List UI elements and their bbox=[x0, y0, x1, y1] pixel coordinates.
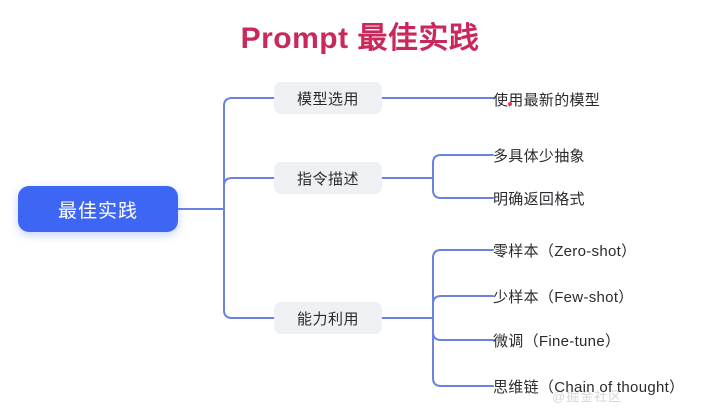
link-trunk-branch-1 bbox=[224, 98, 274, 209]
branch-node-label: 能力利用 bbox=[297, 308, 359, 329]
root-node[interactable]: 最佳实践 bbox=[18, 186, 178, 232]
mindmap-canvas: Prompt 最佳实践 最佳实践 模型选用 指令描 bbox=[0, 0, 720, 409]
text-cursor-dot bbox=[508, 102, 512, 106]
link-branch3-leaf4 bbox=[433, 318, 493, 386]
leaf-node-label: 微调（Fine-tune） bbox=[493, 330, 620, 351]
root-node-label: 最佳实践 bbox=[58, 196, 138, 223]
branch-node-label: 模型选用 bbox=[297, 88, 359, 109]
leaf-node[interactable]: 使用最新的模型 bbox=[493, 88, 600, 110]
link-branch2-leaf1 bbox=[433, 155, 493, 178]
leaf-node[interactable]: 少样本（Few-shot） bbox=[493, 285, 634, 307]
watermark: @掘金社区 bbox=[552, 386, 622, 405]
leaf-node-label: 明确返回格式 bbox=[493, 188, 585, 209]
leaf-node[interactable]: 明确返回格式 bbox=[493, 187, 585, 209]
leaf-node-label: 多具体少抽象 bbox=[493, 145, 585, 166]
page-title: Prompt 最佳实践 bbox=[0, 13, 720, 57]
leaf-node[interactable]: 微调（Fine-tune） bbox=[493, 329, 620, 351]
leaf-node-label: 使用最新的模型 bbox=[493, 89, 600, 110]
link-branch3-leaf2 bbox=[433, 296, 493, 318]
branch-node-label: 指令描述 bbox=[297, 168, 359, 189]
leaf-node[interactable]: 多具体少抽象 bbox=[493, 144, 585, 166]
leaf-node[interactable]: 零样本（Zero-shot） bbox=[493, 239, 636, 261]
leaf-node-label: 零样本（Zero-shot） bbox=[493, 240, 636, 261]
branch-node-capability[interactable]: 能力利用 bbox=[274, 302, 382, 334]
leaf-node-label: 少样本（Few-shot） bbox=[493, 286, 634, 307]
link-trunk-branch-3 bbox=[224, 209, 274, 318]
link-branch3-leaf1 bbox=[433, 250, 493, 318]
branch-node-model-selection[interactable]: 模型选用 bbox=[274, 82, 382, 114]
link-trunk-branch-2 bbox=[224, 178, 274, 209]
link-branch3-leaf3 bbox=[433, 318, 493, 340]
branch-node-instruction[interactable]: 指令描述 bbox=[274, 162, 382, 194]
link-branch2-leaf2 bbox=[433, 178, 493, 198]
